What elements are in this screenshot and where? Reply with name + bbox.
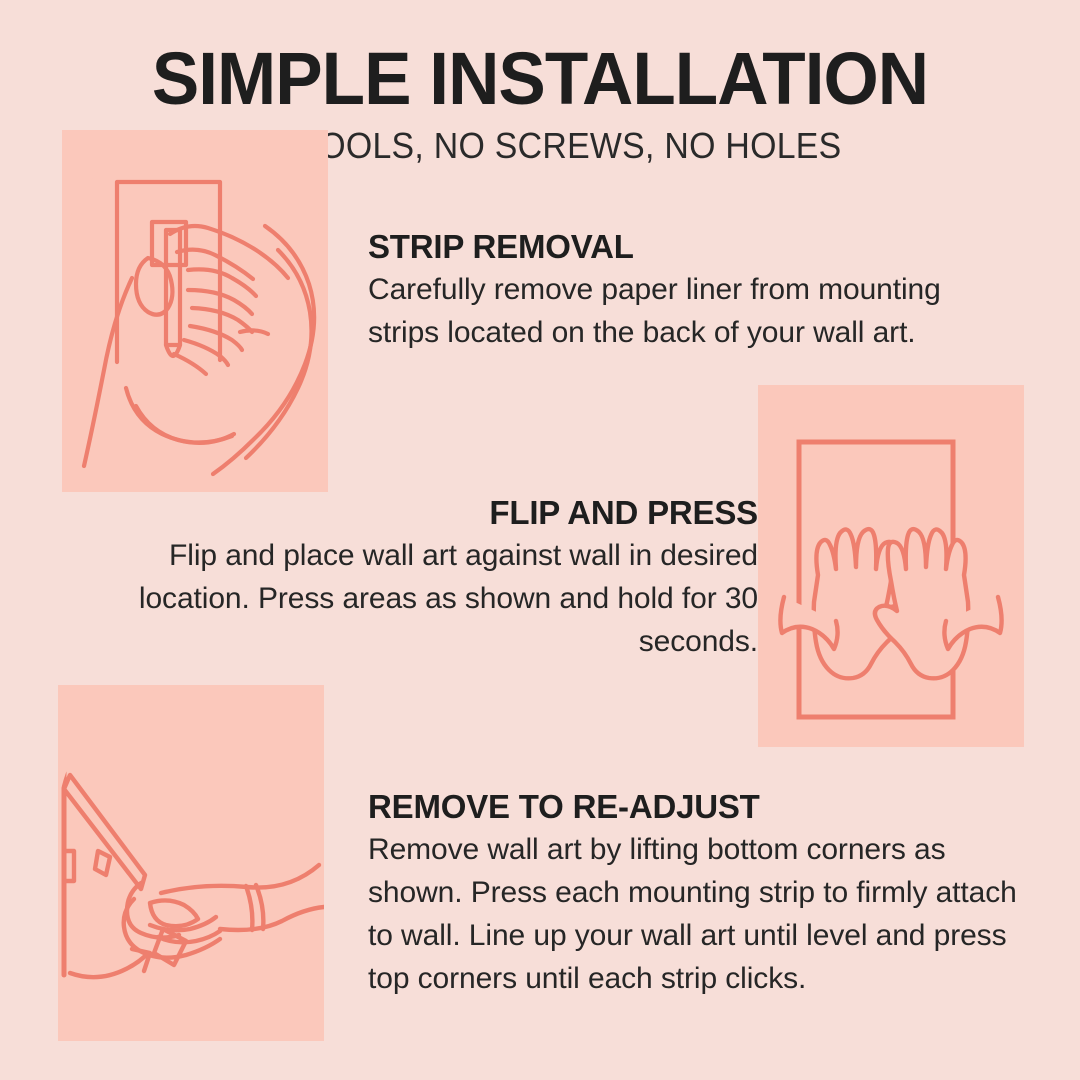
- step-body: Flip and place wall art against wall in …: [108, 535, 758, 664]
- step-flip-and-press: FLIP AND PRESS Flip and place wall art a…: [108, 494, 758, 664]
- illustration-panel-flip-and-press: [758, 385, 1024, 747]
- step-heading: STRIP REMOVAL: [368, 228, 1008, 267]
- step-heading: REMOVE TO RE-ADJUST: [368, 788, 1018, 827]
- hand-peeling-liner-icon: [62, 130, 328, 492]
- illustration-panel-strip-removal: [62, 130, 328, 492]
- illustration-panel-remove-readjust: [58, 685, 324, 1041]
- two-hands-pressing-icon: [758, 385, 1024, 747]
- step-body: Remove wall art by lifting bottom corner…: [368, 829, 1018, 1001]
- step-body: Carefully remove paper liner from mounti…: [368, 269, 1008, 355]
- infographic-canvas: SIMPLE INSTALLATION NO TOOLS, NO SCREWS,…: [0, 0, 1080, 1080]
- step-remove-to-readjust: REMOVE TO RE-ADJUST Remove wall art by l…: [368, 788, 1018, 1001]
- hand-lifting-corner-icon: [58, 685, 324, 1041]
- step-strip-removal: STRIP REMOVAL Carefully remove paper lin…: [368, 228, 1008, 355]
- step-heading: FLIP AND PRESS: [108, 494, 758, 533]
- page-title: SIMPLE INSTALLATION: [22, 42, 1059, 116]
